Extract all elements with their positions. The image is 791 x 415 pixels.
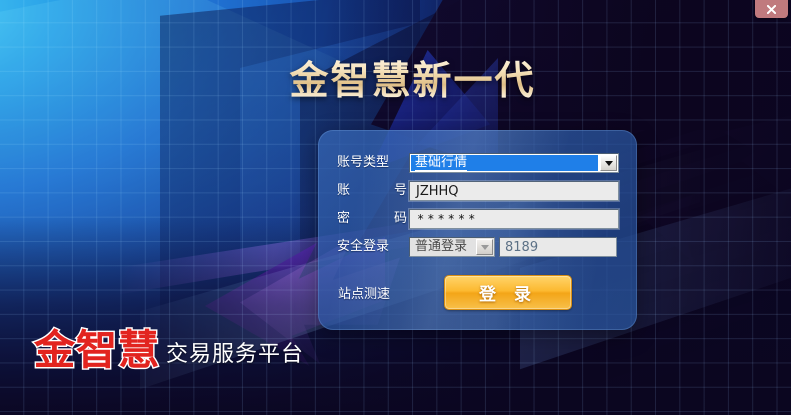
account-type-value-text: 基础行情 [415, 156, 467, 171]
chevron-down-icon-secure[interactable] [476, 239, 493, 255]
close-button[interactable] [755, 0, 788, 18]
captcha-input-value: 8189 [500, 240, 538, 255]
form-row-secure-login: 安全登录 普通登录 8189 [318, 236, 637, 258]
brand-subtitle: 交易服务平台 [166, 336, 304, 368]
label-secure-login: 安全登录 [337, 236, 409, 258]
site-speed-test-link[interactable]: 站点测速 [338, 283, 390, 302]
login-window: 金智慧新一代 账号类型 基础行情 账 号 [0, 0, 791, 415]
label-account-char-1: 账 [337, 180, 350, 202]
label-password-char-1: 密 [337, 208, 350, 230]
login-panel: 账号类型 基础行情 账 号 JZHHQ [318, 130, 637, 330]
account-type-select[interactable]: 基础行情 [409, 153, 619, 173]
label-password: 密 码 [337, 208, 409, 230]
label-account: 账 号 [337, 180, 409, 202]
form-row-account: 账 号 JZHHQ [318, 180, 637, 202]
label-password-char-2: 码 [394, 208, 407, 230]
chevron-down-icon[interactable] [600, 155, 617, 171]
account-input[interactable]: JZHHQ [409, 181, 619, 201]
secure-login-selected-value: 普通登录 [411, 239, 474, 255]
login-form: 账号类型 基础行情 账 号 JZHHQ [318, 152, 637, 264]
brand-mark: 金智慧 [34, 330, 160, 371]
form-row-account-type: 账号类型 基础行情 [318, 152, 637, 174]
login-panel-actions: 站点测速 登 录 [318, 275, 637, 311]
brand-mark-wrap: 金智慧 金智慧 [34, 330, 160, 371]
secure-login-value-text: 普通登录 [415, 240, 467, 254]
close-icon [767, 5, 776, 14]
password-input-value: ****** [410, 212, 478, 226]
account-type-selected-value: 基础行情 [411, 155, 598, 171]
captcha-input[interactable]: 8189 [499, 237, 617, 257]
login-button[interactable]: 登 录 [444, 275, 572, 310]
secure-login-select[interactable]: 普通登录 [409, 237, 495, 257]
label-account-type: 账号类型 [337, 152, 409, 174]
password-input[interactable]: ****** [409, 209, 619, 229]
form-row-password: 密 码 ****** [318, 208, 637, 230]
label-account-char-2: 号 [394, 180, 407, 202]
brand-logo: 金智慧 金智慧 交易服务平台 [34, 330, 304, 371]
account-input-value: JZHHQ [410, 184, 459, 199]
